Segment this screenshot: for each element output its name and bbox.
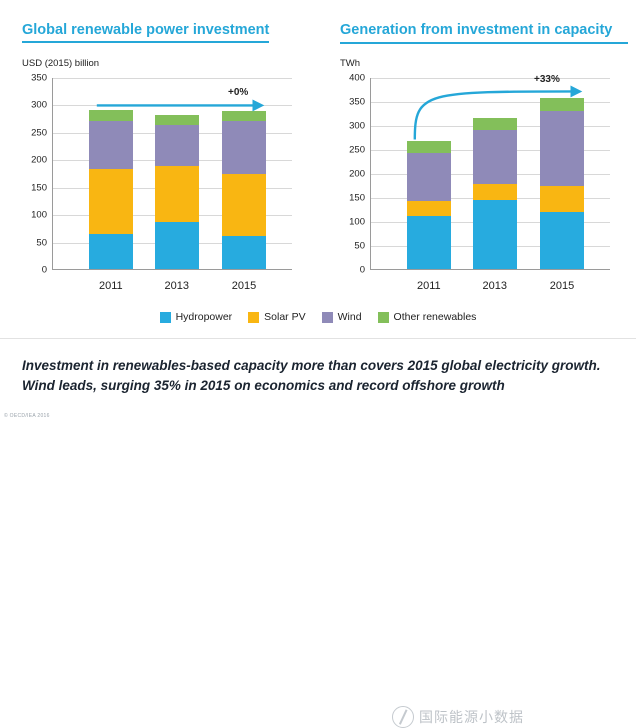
growth-arrow-icon [370, 78, 610, 270]
y-axis-unit-right: TWh [340, 58, 360, 69]
y-axis-tick-label: 50 [354, 241, 365, 252]
x-axis-tick-label: 2011 [89, 280, 133, 292]
y-axis-tick-label: 250 [349, 145, 365, 156]
caption-divider [0, 338, 636, 339]
title-divider-right [340, 42, 628, 44]
y-axis-tick-label: 200 [349, 169, 365, 180]
chart-panel-right: Generation from investment in capacity T… [318, 0, 636, 340]
legend-swatch [322, 312, 333, 323]
growth-annotation-label: +33% [534, 74, 560, 85]
panel-title-left: Global renewable power investment [22, 22, 269, 43]
y-axis-tick-label: 250 [31, 127, 47, 138]
y-axis-tick-label: 300 [31, 100, 47, 111]
y-axis-tick-label: 0 [360, 265, 365, 276]
legend-label: Other renewables [394, 311, 477, 323]
y-axis-tick-label: 400 [349, 73, 365, 84]
x-axis-tick-label: 2015 [540, 280, 584, 292]
panel-title-right: Generation from investment in capacity [340, 22, 612, 41]
legend-item: Solar PV [248, 311, 305, 323]
x-axis-tick-label: 2011 [407, 280, 451, 292]
caption-block: Investment in renewables-based capacity … [0, 338, 636, 423]
legend-label: Solar PV [264, 311, 305, 323]
legend-swatch [248, 312, 259, 323]
chart-legend: HydropowerSolar PVWindOther renewables [0, 306, 636, 328]
x-axis-tick-label: 2015 [222, 280, 266, 292]
legend-item: Wind [322, 311, 362, 323]
y-axis-tick-label: 100 [31, 210, 47, 221]
y-axis-tick-label: 100 [349, 217, 365, 228]
watermark: 国际能源小数据 [392, 706, 524, 728]
y-axis-tick-label: 350 [349, 97, 365, 108]
x-axis-tick-label: 2013 [473, 280, 517, 292]
y-axis-tick-label: 300 [349, 121, 365, 132]
legend-label: Wind [338, 311, 362, 323]
watermark-logo-icon [392, 706, 414, 728]
y-axis-tick-label: 0 [42, 265, 47, 276]
plot-area-left: 050100150200250300350201120132015+0% [52, 78, 292, 270]
caption-text: Investment in renewables-based capacity … [22, 356, 622, 396]
chart-panel-left: Global renewable power investment USD (2… [0, 0, 318, 340]
y-axis-tick-label: 350 [31, 73, 47, 84]
plot-area-right: 050100150200250300350400201120132015+33% [370, 78, 610, 270]
y-axis-unit-left: USD (2015) billion [22, 58, 99, 69]
growth-arrow-icon [52, 78, 292, 270]
legend-swatch [378, 312, 389, 323]
legend-item: Hydropower [160, 311, 233, 323]
x-axis-tick-label: 2013 [155, 280, 199, 292]
growth-annotation-label: +0% [228, 87, 248, 98]
copyright-text: © OECD/IEA 2016 [4, 413, 50, 419]
y-axis-tick-label: 50 [36, 237, 47, 248]
legend-swatch [160, 312, 171, 323]
y-axis-tick-label: 150 [31, 182, 47, 193]
y-axis-tick-label: 150 [349, 193, 365, 204]
legend-label: Hydropower [176, 311, 233, 323]
y-axis-tick-label: 200 [31, 155, 47, 166]
legend-item: Other renewables [378, 311, 477, 323]
watermark-text: 国际能源小数据 [419, 707, 524, 727]
